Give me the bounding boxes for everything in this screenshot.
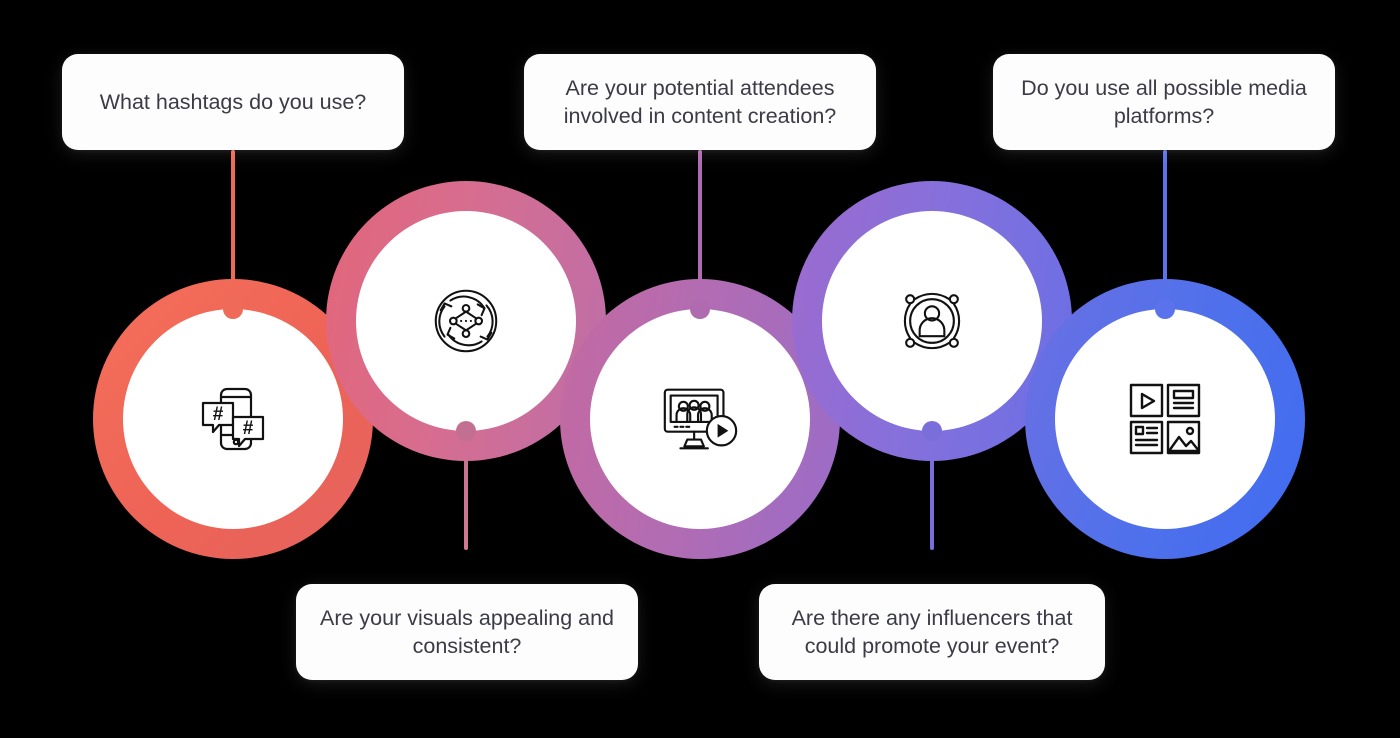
question-card-text: Are there any influencers that could pro…	[779, 604, 1085, 661]
svg-text:#: #	[243, 418, 254, 439]
connector-dot-node1	[223, 299, 243, 319]
connector-dot-node3	[690, 299, 710, 319]
content-cycle-icon	[427, 282, 505, 360]
media-grid-icon	[1125, 379, 1205, 459]
question-card-attendees[interactable]: Are your potential attendees involved in…	[524, 54, 876, 150]
svg-text:#: #	[213, 404, 224, 425]
question-card-platforms[interactable]: Do you use all possible media platforms?	[993, 54, 1335, 150]
node-icon-wrap-3	[590, 309, 810, 529]
connector-dot-node4	[922, 421, 942, 441]
node-icon-wrap-4	[822, 211, 1042, 431]
node-icon-wrap-1: # #	[123, 309, 343, 529]
question-card-influencers[interactable]: Are there any influencers that could pro…	[759, 584, 1105, 680]
question-card-text: Do you use all possible media platforms?	[1013, 74, 1315, 131]
node-circle-5[interactable]	[1025, 279, 1305, 559]
question-card-text: Are your potential attendees involved in…	[544, 74, 856, 131]
node-icon-wrap-2	[356, 211, 576, 431]
question-card-text: What hashtags do you use?	[100, 88, 367, 116]
monitor-audience-play-icon	[657, 379, 743, 459]
question-card-hashtags[interactable]: What hashtags do you use?	[62, 54, 404, 150]
connector-dot-node2	[456, 421, 476, 441]
infographic-canvas: # #	[0, 0, 1400, 738]
question-card-text: Are your visuals appealing and consisten…	[316, 604, 618, 661]
influencer-person-network-icon	[894, 283, 970, 359]
smartphone-hashtags-icon: # #	[191, 377, 275, 461]
connector-dot-node5	[1155, 299, 1175, 319]
question-card-visuals[interactable]: Are your visuals appealing and consisten…	[296, 584, 638, 680]
node-icon-wrap-5	[1055, 309, 1275, 529]
